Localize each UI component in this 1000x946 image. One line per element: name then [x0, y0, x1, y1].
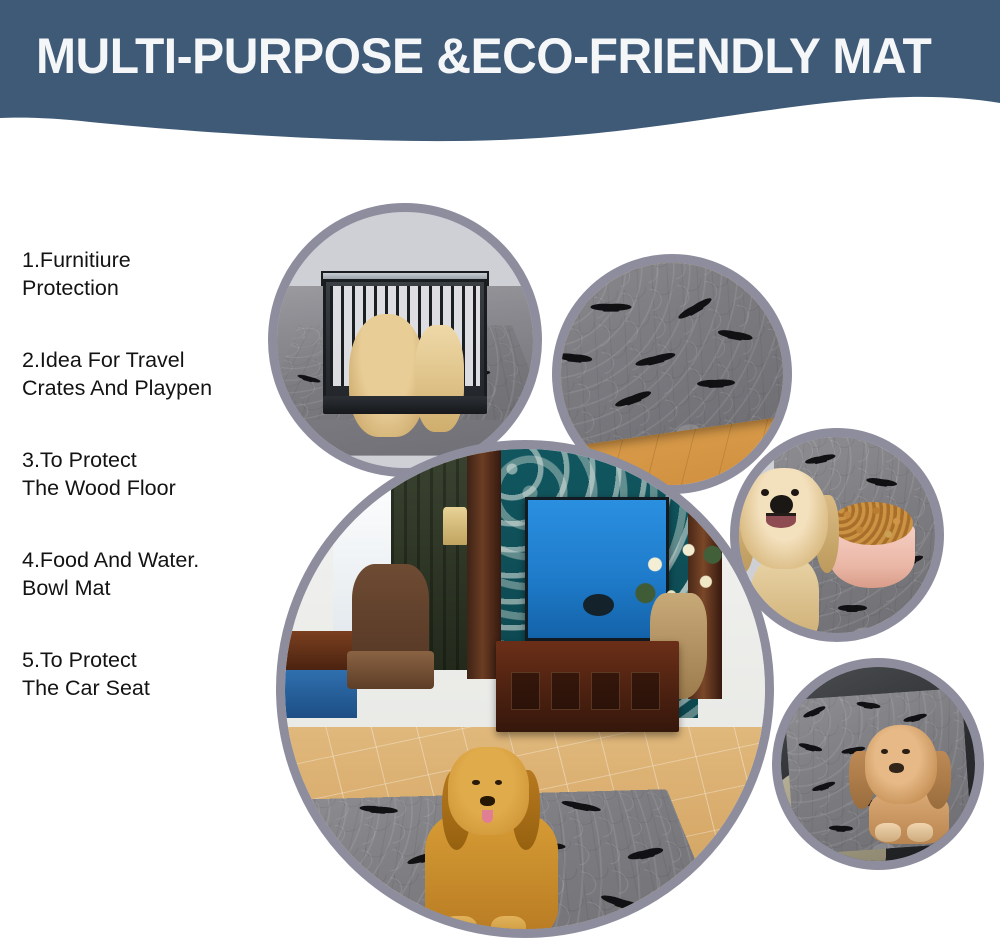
tv-screen-content	[583, 594, 613, 616]
dog-eye-left	[472, 780, 479, 785]
dog-nose	[480, 796, 495, 806]
dog-tongue	[482, 810, 493, 822]
dog-head	[448, 747, 529, 835]
feature-item-1: 1.Furnitiure Protection	[22, 246, 284, 302]
armchair-seat	[347, 651, 433, 689]
table-lamp	[443, 507, 467, 545]
dog-eye-right	[495, 780, 502, 785]
bone-icon	[603, 306, 620, 313]
mastiff-puppy	[859, 725, 960, 841]
dog-in-crate-rear	[415, 325, 464, 433]
living-room-scene	[285, 449, 765, 929]
bone-icon	[369, 806, 387, 813]
food-bowl-scene	[739, 437, 935, 633]
puppy-paw-left	[875, 823, 901, 842]
feature-item-3: 3.To Protect The Wood Floor	[22, 446, 284, 502]
bone-icon	[300, 849, 320, 858]
dog-in-crate	[349, 314, 426, 437]
dog-eye-right	[791, 489, 799, 496]
mat-on-wood-floor	[561, 263, 783, 449]
kibble-food	[831, 502, 913, 545]
tv-console	[496, 641, 678, 732]
photo-circle-car-seat	[772, 658, 984, 870]
puppy-eye-right	[902, 749, 909, 755]
bone-icon	[835, 827, 845, 832]
golden-retriever-on-mat	[419, 747, 563, 929]
dog-mouth	[766, 513, 796, 528]
product-infographic: MULTI-PURPOSE &ECO-FRIENDLY MAT 1.Furnit…	[0, 0, 1000, 946]
dog-nose	[770, 495, 793, 515]
puppy-nose	[889, 763, 904, 773]
car-seat-scene	[781, 667, 975, 861]
crate-base-tray	[323, 396, 487, 414]
feature-item-5: 5.To Protect The Car Seat	[22, 646, 284, 702]
photo-circle-crate	[268, 203, 542, 477]
console-panel	[591, 672, 620, 710]
photo-circle-living-room	[276, 440, 774, 938]
console-panel	[551, 672, 580, 710]
puppy-paw-right	[907, 823, 933, 842]
puppy-head	[865, 725, 938, 804]
console-panel	[631, 672, 660, 710]
feature-item-4: 4.Food And Water. Bowl Mat	[22, 546, 284, 602]
blue-rug	[285, 670, 357, 718]
puppy-eye-left	[881, 749, 888, 755]
dog-paw-left	[442, 916, 477, 929]
dog-paw-right	[491, 916, 526, 929]
crate-scene	[277, 212, 533, 468]
page-title: MULTI-PURPOSE &ECO-FRIENDLY MAT	[36, 26, 938, 88]
bone-icon	[846, 606, 858, 612]
header-banner: MULTI-PURPOSE &ECO-FRIENDLY MAT	[0, 0, 1000, 160]
feature-item-2: 2.Idea For Travel Crates And Playpen	[22, 346, 284, 402]
console-panel	[511, 672, 540, 710]
feature-list: 1.Furnitiure Protection 2.Idea For Trave…	[22, 246, 284, 746]
